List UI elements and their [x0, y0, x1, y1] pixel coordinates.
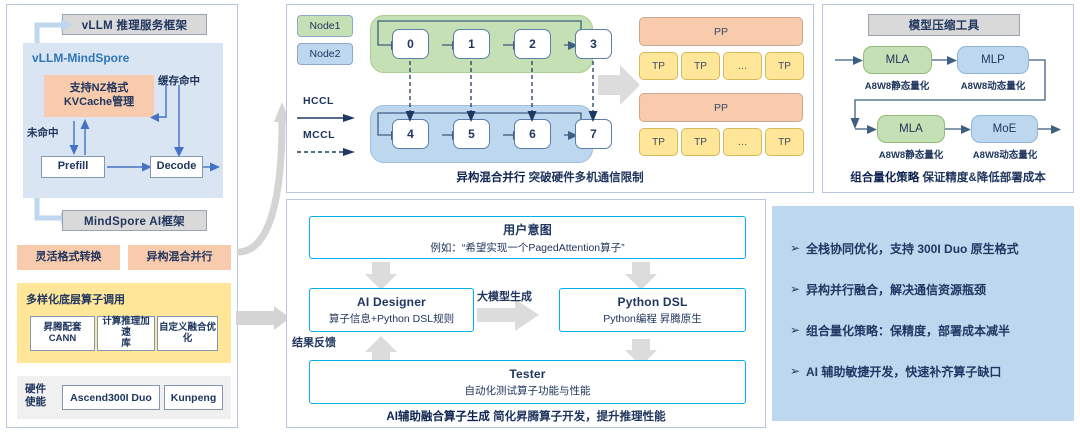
- quant-box-mla-2: MLA: [877, 115, 945, 143]
- operator-item-accel-lib: 计算推理加速库: [97, 316, 155, 351]
- ai-operator-caption-rest: 简化昇腾算子开发，提升推理性能: [493, 411, 666, 423]
- model-compression-caption-lead: 组合量化策略: [850, 172, 919, 184]
- tp-bar-1-3: TP: [765, 52, 804, 80]
- chevron-bullet-icon: ➢: [790, 365, 806, 378]
- decode-box: Decode: [150, 156, 203, 178]
- connector-arrows: [234, 60, 292, 360]
- mindspore-framework-bar: MindSpore AI框架: [62, 210, 207, 231]
- hardware-item-ascend: Ascend300I Duo: [62, 385, 160, 410]
- vllm-service-framework-bar: vLLM 推理服务框架: [62, 14, 207, 35]
- legend-hccl-line: [297, 113, 359, 123]
- feature-box-hetero-parallel: 异构混合并行: [128, 245, 231, 270]
- legend-node1-label: Node1: [310, 20, 341, 32]
- model-compression-caption: 组合量化策略 保证精度&降低部署成本: [823, 169, 1073, 185]
- hetero-parallel-caption: 异构混合并行 突破硬件多机通信限制: [287, 169, 813, 185]
- vllm-mindspore-block: vLLM-MindSpore 支持NZ格式KVCache管理 缓存命中 未命中: [23, 43, 223, 198]
- hardware-enablement-label: 硬件使能: [25, 383, 46, 409]
- chevron-bullet-icon: ➢: [790, 283, 806, 296]
- mccl-dashed-arrows: [370, 57, 620, 127]
- tester-box: Tester 自动化测试算子功能与性能: [309, 360, 746, 404]
- vllm-service-framework-label: vLLM 推理服务框架: [82, 17, 188, 33]
- quant-box-mlp: MLP: [957, 46, 1029, 74]
- legend-mccl-line: [297, 147, 359, 157]
- ai-designer-sub: 算子信息+Python DSL规则: [329, 311, 454, 326]
- benefit-text-1: 全栈协同优化，支持 300I Duo 原生格式: [806, 242, 1019, 257]
- tester-title: Tester: [509, 367, 545, 381]
- quant-label-moe: A8W8动态量化: [953, 147, 1057, 161]
- benefit-text-4: AI 辅助敏捷开发，快速补齐算子缺口: [806, 365, 1001, 380]
- model-compression-panel: 模型压缩工具 MLA MLP A8W8静态量化 A8W8动态量化 MLA: [822, 4, 1074, 193]
- quant-box-mla-1: MLA: [863, 46, 932, 74]
- feature-box-format-conversion: 灵活格式转换: [17, 245, 120, 270]
- rank-box-0: 0: [392, 29, 429, 59]
- legend-node1-chip: Node1: [297, 15, 353, 37]
- benefit-row-4: ➢ AI 辅助敏捷开发，快速补齐算子缺口: [790, 365, 1065, 380]
- benefit-row-2: ➢ 异构并行融合，解决通信资源瓶颈: [790, 283, 1065, 298]
- operator-invocation-block: 多样化底层算子调用 昇腾配套CANN 计算推理加速库 自定义融合优化: [17, 283, 231, 363]
- left-stack-panel: vLLM 推理服务框架 vLLM-MindSpore 支持NZ格式KVCache…: [6, 4, 238, 428]
- quant-label-mlp: A8W8动态量化: [941, 78, 1045, 92]
- python-dsl-sub: Python编程 昇腾原生: [603, 311, 702, 326]
- benefit-text-3: 组合量化策略：保精度，部署成本减半: [806, 324, 1010, 339]
- pp-bar-1: PP: [639, 17, 803, 46]
- model-compression-caption-rest: 保证精度&降低部署成本: [922, 172, 1045, 184]
- hetero-parallel-caption-rest: 突破硬件多机通信限制: [529, 172, 644, 184]
- result-feedback-label: 结果反馈: [292, 334, 336, 350]
- hardware-item-kunpeng: Kunpeng: [164, 385, 223, 410]
- legend-node2-label: Node2: [310, 48, 341, 60]
- pp-bar-2: PP: [639, 93, 803, 122]
- tp-bar-1-2: …: [723, 52, 762, 80]
- tester-sub: 自动化测试算子功能与性能: [465, 383, 591, 398]
- tp-bar-2-2: …: [723, 128, 762, 156]
- ai-operator-caption: AI辅助融合算子生成 简化昇腾算子开发，提升推理性能: [287, 408, 765, 424]
- ai-designer-title: AI Designer: [357, 295, 426, 309]
- operator-item-cann: 昇腾配套CANN: [30, 316, 95, 351]
- feature-box-format-conversion-label: 灵活格式转换: [36, 251, 102, 265]
- quant-flow-arrows: [823, 5, 1075, 194]
- llm-generation-label: 大模型生成: [477, 288, 532, 304]
- legend-node2-chip: Node2: [297, 43, 353, 65]
- quant-label-mla-2: A8W8静态量化: [861, 147, 961, 161]
- quant-box-moe: MoE: [971, 115, 1038, 143]
- ai-designer-box: AI Designer 算子信息+Python DSL规则: [309, 288, 474, 332]
- python-dsl-box: Python DSL Python编程 昇腾原生: [559, 288, 746, 332]
- tp-bar-1-0: TP: [639, 52, 678, 80]
- chevron-bullet-icon: ➢: [790, 324, 806, 337]
- operator-item-custom-fusion: 自定义融合优化: [157, 316, 218, 351]
- tp-bar-2-1: TP: [681, 128, 720, 156]
- legend-mccl-label: MCCL: [303, 129, 335, 141]
- python-dsl-title: Python DSL: [618, 295, 688, 309]
- key-benefits-panel: ➢ 全栈协同优化，支持 300I Duo 原生格式 ➢ 异构并行融合，解决通信资…: [772, 206, 1074, 421]
- rank-box-3: 3: [575, 29, 612, 59]
- hetero-parallel-panel: Node1 Node2 HCCL MCCL: [286, 4, 814, 193]
- tp-bar-2-3: TP: [765, 128, 804, 156]
- rank-box-1: 1: [453, 29, 490, 59]
- ai-operator-generation-panel: 用户意图 例如：“希望实现一个PagedAttention算子” AI Desi…: [286, 199, 766, 428]
- operator-invocation-title: 多样化底层算子调用: [26, 291, 125, 307]
- rank-box-2: 2: [514, 29, 551, 59]
- chevron-bullet-icon: ➢: [790, 242, 806, 255]
- tp-bar-2-0: TP: [639, 128, 678, 156]
- benefit-row-3: ➢ 组合量化策略：保精度，部署成本减半: [790, 324, 1065, 339]
- legend-hccl-label: HCCL: [303, 95, 334, 107]
- mindspore-framework-label: MindSpore AI框架: [84, 213, 185, 229]
- feature-box-hetero-parallel-label: 异构混合并行: [147, 251, 213, 265]
- quant-label-mla-1: A8W8静态量化: [847, 78, 947, 92]
- diagram-root: vLLM 推理服务框架 vLLM-MindSpore 支持NZ格式KVCache…: [0, 0, 1080, 432]
- benefit-text-2: 异构并行融合，解决通信资源瓶颈: [806, 283, 986, 298]
- benefit-row-1: ➢ 全栈协同优化，支持 300I Duo 原生格式: [790, 242, 1065, 257]
- hetero-parallel-caption-lead: 异构混合并行: [456, 172, 525, 184]
- ai-operator-caption-lead: AI辅助融合算子生成: [386, 411, 490, 423]
- prefill-box: Prefill: [41, 156, 105, 178]
- tp-bar-1-1: TP: [681, 52, 720, 80]
- hardware-enablement-block: 硬件使能 Ascend300I Duo Kunpeng: [17, 376, 231, 419]
